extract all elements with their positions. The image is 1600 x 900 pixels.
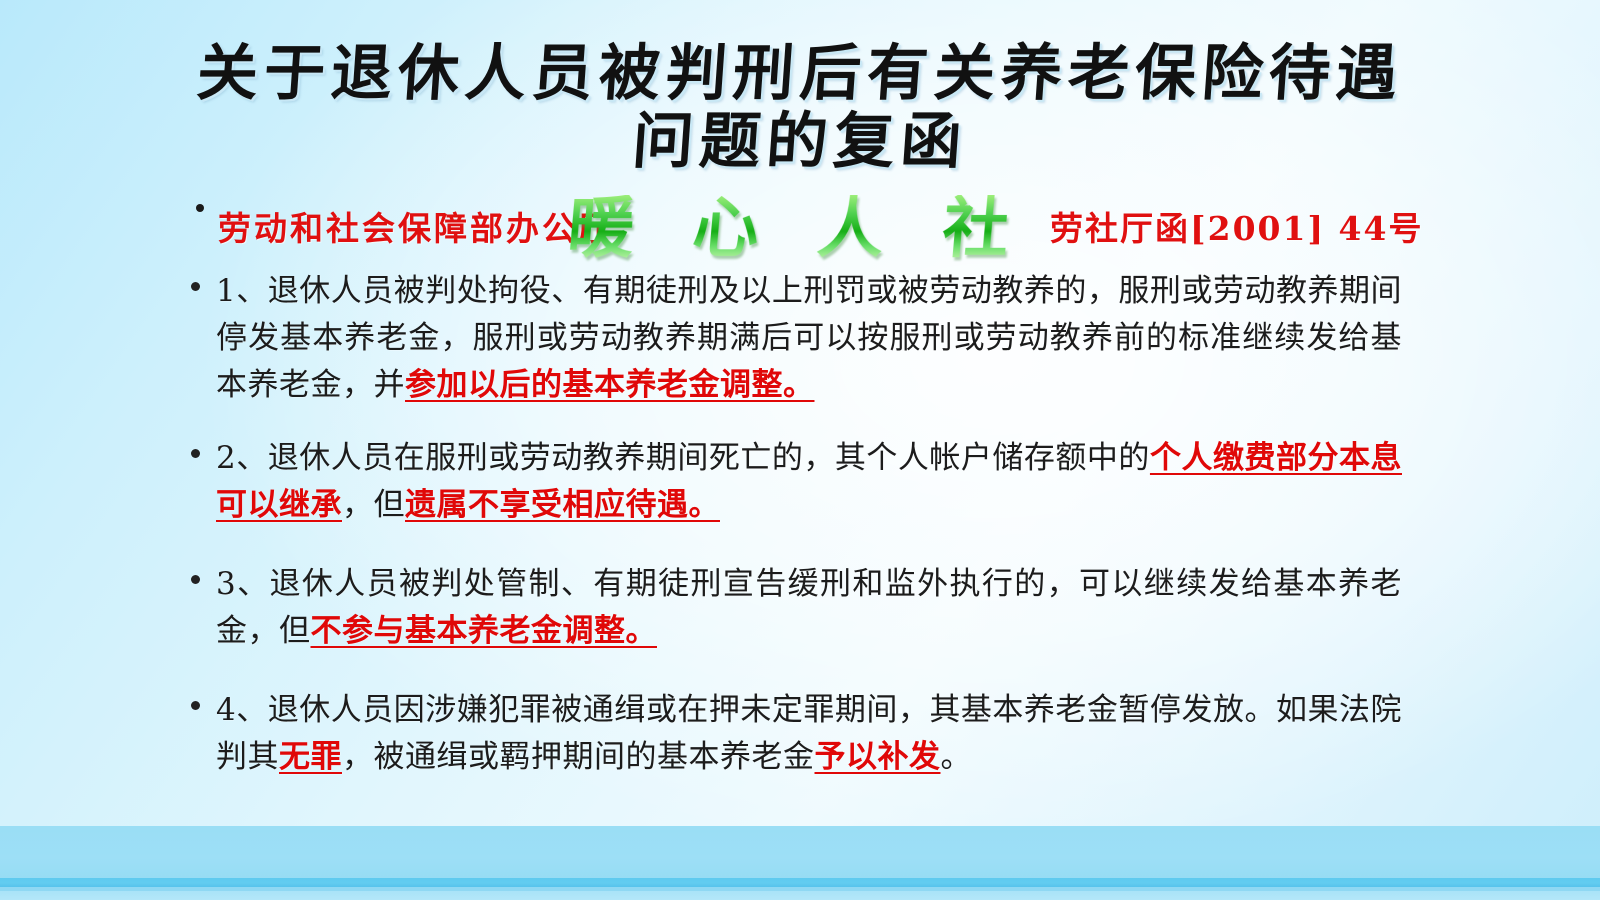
title-line-1: 关于退休人员被判刑后有关养老保险待遇 <box>0 40 1600 108</box>
presentation-slide: 关于退休人员被判刑后有关养老保险待遇 问题的复函 劳动和社会保障部办公厅 劳社厅… <box>0 0 1600 900</box>
bullet-icon <box>191 575 200 584</box>
clause-list: 1、退休人员被判处拘役、有期徒刑及以上刑罚或被劳动教养的，服刑或劳动教养期间停发… <box>186 268 1402 803</box>
footer-band-accent <box>0 878 1600 887</box>
highlighted-text: 不参与基本养老金调整。 <box>311 613 658 649</box>
list-item: 3、退休人员被判处管制、有期徒刑宣告缓刑和监外执行的，可以继续发给基本养老金，但… <box>186 561 1402 655</box>
highlighted-text: 予以补发 <box>815 739 941 775</box>
clause-text-4: 4、退休人员因涉嫌犯罪被通缉或在押未定罪期间，其基本养老金暂停发放。如果法院判其… <box>216 687 1402 781</box>
list-item: 1、退休人员被判处拘役、有期徒刑及以上刑罚或被劳动教养的，服刑或劳动教养期间停发… <box>186 268 1402 409</box>
document-header: 劳动和社会保障部办公厅 劳社厅函[2001] 44号 <box>196 200 1396 256</box>
body-text: 2、退休人员在服刑或劳动教养期间死亡的，其个人帐户储存额中的 <box>216 440 1150 476</box>
bullet-icon <box>191 701 200 710</box>
body-text: ，被通缉或羁押期间的基本养老金 <box>342 739 815 775</box>
footer-band-primary <box>0 826 1600 880</box>
issuing-department: 劳动和社会保障部办公厅 <box>218 202 614 250</box>
highlighted-text: 参加以后的基本养老金调整。 <box>405 367 815 403</box>
clause-text-3: 3、退休人员被判处管制、有期徒刑宣告缓刑和监外执行的，可以继续发给基本养老金，但… <box>216 561 1402 655</box>
highlighted-text: 无罪 <box>279 739 342 775</box>
footer-band-bottom <box>0 891 1600 900</box>
bullet-icon <box>191 282 200 291</box>
document-number: 劳社厅函[2001] 44号 <box>1050 202 1424 250</box>
clause-text-2: 2、退休人员在服刑或劳动教养期间死亡的，其个人帐户储存额中的个人缴费部分本息可以… <box>216 435 1402 529</box>
bullet-icon <box>191 449 200 458</box>
slide-title: 关于退休人员被判刑后有关养老保险待遇 问题的复函 <box>0 40 1600 176</box>
body-text: ，但 <box>342 487 405 523</box>
title-line-2: 问题的复函 <box>0 108 1600 176</box>
list-item: 2、退休人员在服刑或劳动教养期间死亡的，其个人帐户储存额中的个人缴费部分本息可以… <box>186 435 1402 529</box>
list-item: 4、退休人员因涉嫌犯罪被通缉或在押未定罪期间，其基本养老金暂停发放。如果法院判其… <box>186 687 1402 781</box>
body-text: 。 <box>941 739 973 775</box>
highlighted-text: 遗属不享受相应待遇。 <box>405 487 720 523</box>
bullet-icon <box>196 204 204 212</box>
clause-text-1: 1、退休人员被判处拘役、有期徒刑及以上刑罚或被劳动教养的，服刑或劳动教养期间停发… <box>216 268 1402 409</box>
